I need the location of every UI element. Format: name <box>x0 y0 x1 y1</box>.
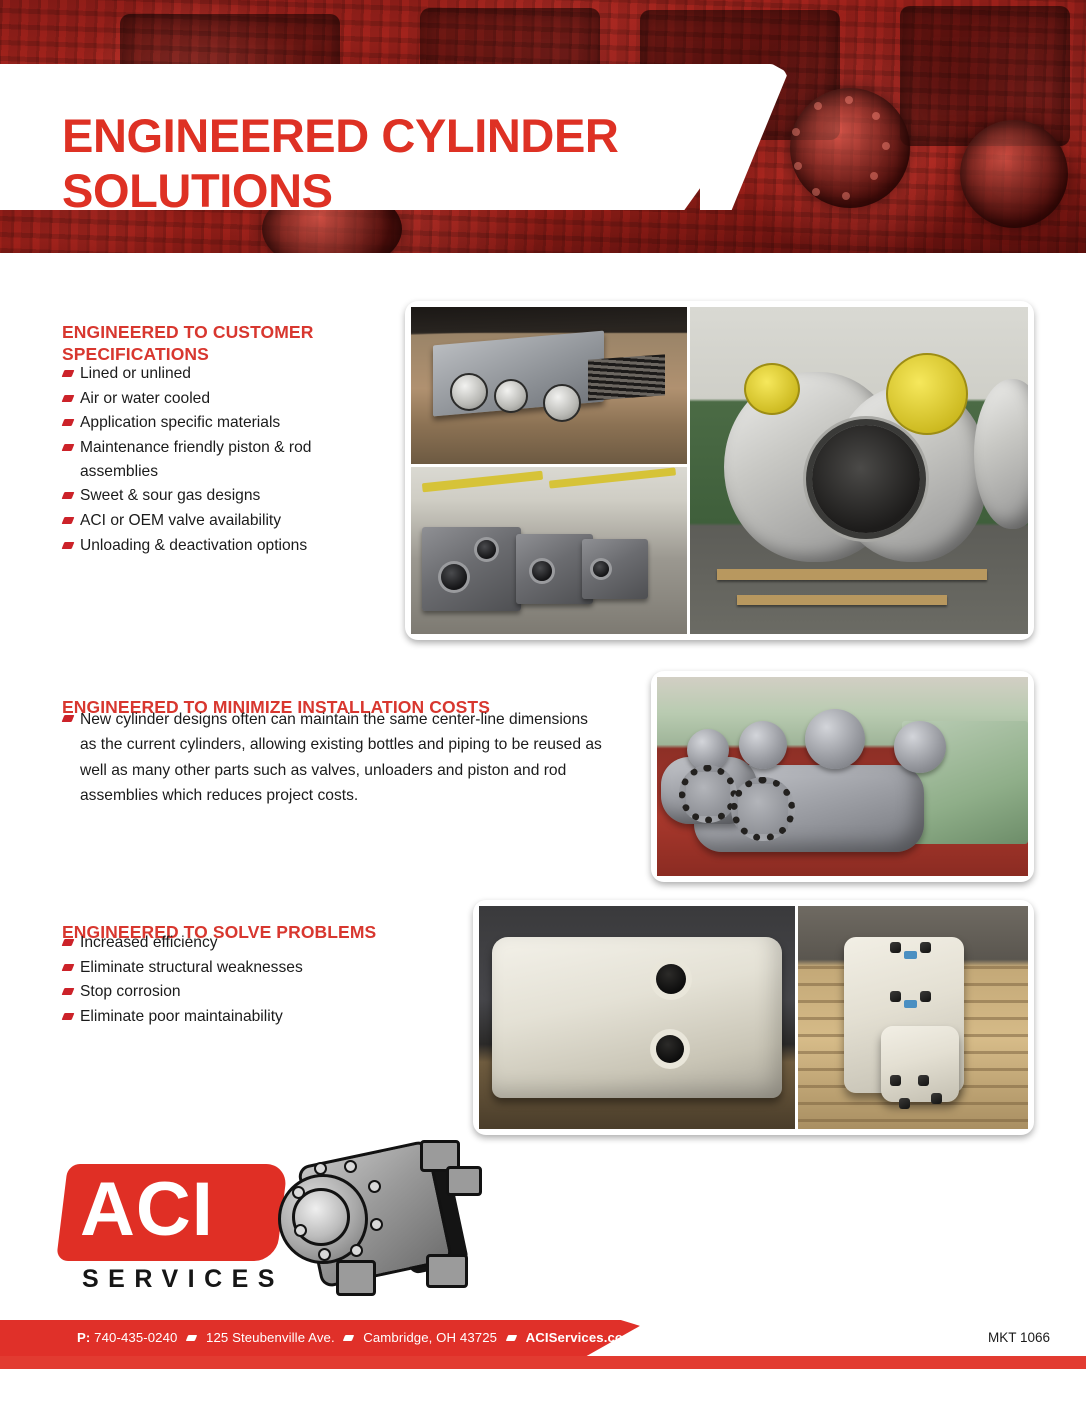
logo-wordmark: ACI <box>80 1172 290 1248</box>
header-bolt-dot <box>842 192 850 200</box>
section1-bullet-list: Lined or unlined Air or water cooled App… <box>62 362 392 559</box>
list-item: Eliminate structural weaknesses <box>62 956 462 980</box>
list-item: Eliminate poor maintainability <box>62 1005 462 1029</box>
footer-website-link[interactable]: ACIServices.com <box>526 1330 635 1345</box>
section1-photo-collage <box>405 301 1034 640</box>
list-item: ACI or OEM valve availability <box>62 509 392 533</box>
footer-contact-line: P: 740-435-0240 125 Steubenville Ave. Ca… <box>77 1330 635 1345</box>
header-bolt-dot <box>792 128 800 136</box>
page-title-line-1: ENGINEERED CYLINDER <box>62 109 618 162</box>
footer-phone: 740-435-0240 <box>94 1330 177 1345</box>
list-item: Maintenance friendly piston & rod assemb… <box>62 436 392 483</box>
bullet-text: ACI or OEM valve availability <box>80 512 281 529</box>
list-item: Increased efficiency <box>62 931 462 955</box>
footer-separator-icon <box>343 1335 354 1341</box>
bullet-text: Eliminate structural weaknesses <box>80 959 303 976</box>
photo-cylinders-with-yellow-covers <box>690 307 1028 634</box>
flyer-page: ENGINEERED CYLINDER SOLUTIONS ENGINEERED… <box>0 0 1086 1409</box>
list-item: Sweet & sour gas designs <box>62 484 392 508</box>
header-flange-shape <box>790 88 910 208</box>
header-flange-shape <box>960 120 1068 228</box>
list-item: Stop corrosion <box>62 980 462 1004</box>
bullet-text: Increased efficiency <box>80 934 218 951</box>
footer-address: 125 Steubenville Ave. <box>206 1330 335 1345</box>
header-banner: ENGINEERED CYLINDER SOLUTIONS <box>0 0 1086 253</box>
bullet-text: Lined or unlined <box>80 365 191 382</box>
header-bolt-dot <box>882 142 890 150</box>
bottom-red-band <box>0 1356 1086 1369</box>
photo-white-cylinder-body <box>479 906 795 1129</box>
page-title-line-2: SOLUTIONS <box>62 164 752 219</box>
bullet-text: Stop corrosion <box>80 983 181 1000</box>
section-heading-customer-specifications: ENGINEERED TO CUSTOMER SPECIFICATIONS <box>62 321 392 366</box>
header-bolt-dot <box>845 96 853 104</box>
bullet-text: Maintenance friendly piston & rod assemb… <box>80 439 311 480</box>
paragraph-text: New cylinder designs often can maintain … <box>80 711 602 804</box>
list-item: Unloading & deactivation options <box>62 534 392 558</box>
bullet-text: Unloading & deactivation options <box>80 537 307 554</box>
bottom-white-margin <box>0 1369 1086 1409</box>
section3-photo-collage <box>473 900 1034 1135</box>
photo-compressor-with-pulsation-bottles <box>657 677 1028 876</box>
document-code: MKT 1066 <box>988 1330 1050 1345</box>
list-item: New cylinder designs often can maintain … <box>62 707 607 808</box>
header-bolt-dot <box>794 162 802 170</box>
list-item: Air or water cooled <box>62 387 392 411</box>
section1-heading-line-1: ENGINEERED TO CUSTOMER <box>62 322 313 342</box>
section1-heading-line-2: SPECIFICATIONS <box>62 344 209 364</box>
bullet-text: Application specific materials <box>80 414 280 431</box>
footer-separator-icon <box>506 1335 517 1341</box>
photo-machined-valve-bodies <box>411 467 687 634</box>
header-bolt-dot <box>870 172 878 180</box>
section2-paragraph-list: New cylinder designs often can maintain … <box>62 707 607 808</box>
section2-photo <box>651 671 1034 882</box>
page-title: ENGINEERED CYLINDER SOLUTIONS <box>62 109 752 218</box>
footer-phone-label: P: <box>77 1330 90 1345</box>
photo-white-cylinder-on-pallet <box>798 906 1028 1129</box>
list-item: Lined or unlined <box>62 362 392 386</box>
footer-city-state-zip: Cambridge, OH 43725 <box>363 1330 497 1345</box>
list-item: Application specific materials <box>62 411 392 435</box>
header-bolt-dot <box>814 102 822 110</box>
bullet-text: Air or water cooled <box>80 390 210 407</box>
photo-cylinder-block-on-pallet <box>411 307 687 464</box>
header-bolt-dot <box>872 112 880 120</box>
section3-bullet-list: Increased efficiency Eliminate structura… <box>62 931 462 1030</box>
aci-logo: ACI SERVICES <box>62 1132 482 1307</box>
footer-separator-icon <box>186 1335 197 1341</box>
header-bolt-dot <box>812 188 820 196</box>
bullet-text: Sweet & sour gas designs <box>80 487 260 504</box>
logo-compressor-illustration-icon <box>270 1132 482 1304</box>
header-machine-shape <box>900 6 1070 146</box>
logo-subtitle: SERVICES <box>82 1265 284 1294</box>
bullet-text: Eliminate poor maintainability <box>80 1008 283 1025</box>
